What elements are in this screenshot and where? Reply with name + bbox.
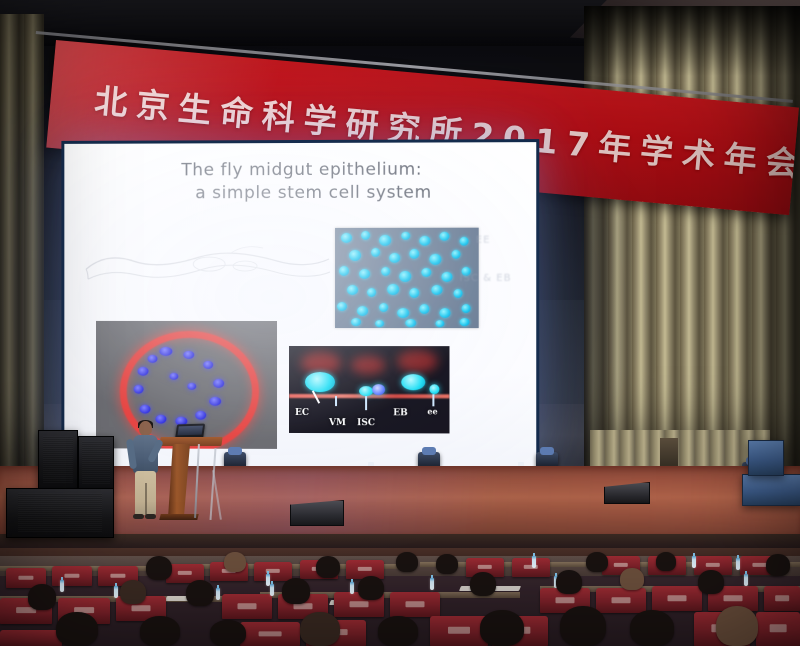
blue-speaker-cabinet-2 <box>748 440 784 476</box>
audience-head <box>716 606 758 646</box>
enterocyte-nucleus-2 <box>401 374 425 390</box>
audience-head <box>656 552 676 571</box>
slide-title-line2: a simple stem cell system <box>195 181 512 205</box>
presenter-head <box>139 421 152 436</box>
audience-head <box>300 612 340 646</box>
audience-head <box>556 570 582 594</box>
label-ec: EC <box>295 408 309 418</box>
water-bottle <box>350 582 354 594</box>
audience-head <box>480 610 524 646</box>
water-bottle <box>60 580 64 592</box>
water-bottle <box>216 588 220 600</box>
label-isc: ISC <box>357 418 375 428</box>
slide-title: The fly midgut epithelium: a simple stem… <box>181 158 512 205</box>
audience-head <box>186 580 214 606</box>
seat <box>222 594 272 619</box>
seat <box>390 592 440 617</box>
stage-floor-reflection <box>0 470 800 536</box>
speaker-cabinet-top <box>38 430 78 490</box>
seat <box>0 630 62 646</box>
slide-note-isc-eb: ISC & EB <box>460 273 512 284</box>
slide-title-line1: The fly midgut epithelium: <box>181 160 422 181</box>
audience-head <box>140 616 180 646</box>
water-bottle <box>270 584 274 596</box>
audience-head <box>396 552 418 572</box>
seat <box>764 586 800 611</box>
eb-nucleus <box>372 384 385 395</box>
presenter <box>128 421 162 521</box>
presenter-leg-split <box>145 483 147 515</box>
label-ee: ee <box>427 406 437 416</box>
audience-head <box>620 568 644 590</box>
podium-top <box>159 437 222 446</box>
audience-head <box>698 570 724 594</box>
presenter-shoe-left <box>133 514 144 519</box>
speaker-cabinet-top-2 <box>78 436 114 490</box>
curtain-right <box>584 6 800 478</box>
audience-head <box>316 556 340 578</box>
audience-head <box>630 610 674 646</box>
seat <box>652 586 702 611</box>
audience-head <box>436 554 458 574</box>
audience-head <box>210 620 246 646</box>
audience-head <box>56 612 98 646</box>
seat <box>512 558 550 577</box>
label-eb: EB <box>393 408 408 418</box>
subwoofer-cabinet <box>6 488 114 538</box>
seat <box>240 622 300 646</box>
audience-head <box>120 580 146 604</box>
audience-head <box>358 576 384 600</box>
enterocyte-nucleus <box>305 372 335 392</box>
water-bottle <box>692 556 696 568</box>
blue-speaker-cabinet <box>742 474 800 506</box>
auditorium-photo: 北京生命科学研究所2017年学术年会 The fly midgut epithe… <box>0 0 800 646</box>
audience-head <box>224 552 246 572</box>
curtain-top-shadow <box>584 6 800 76</box>
presenter-shoe-right <box>145 514 156 519</box>
isc-nucleus <box>359 386 373 396</box>
audience-head <box>470 572 496 596</box>
seat <box>52 566 92 586</box>
epithelium-micrograph: EC VM ISC EB ee <box>289 346 449 433</box>
audience-head <box>560 606 606 646</box>
audience-head <box>766 554 790 576</box>
seat <box>756 612 800 646</box>
water-bottle <box>532 556 536 568</box>
audience-head <box>146 556 172 580</box>
ee-nucleus <box>429 384 439 394</box>
audience-head <box>378 616 418 646</box>
curtain-left <box>0 14 44 480</box>
fly-gut-sketch-icon <box>82 235 331 297</box>
seat <box>596 588 646 613</box>
audience-head <box>282 578 310 604</box>
audience-head <box>586 552 608 572</box>
nuclei-micrograph <box>335 228 479 328</box>
seat <box>254 562 292 581</box>
water-bottle <box>114 586 118 598</box>
audience-head <box>28 584 56 610</box>
podium-base <box>159 514 198 520</box>
water-bottle <box>736 558 740 570</box>
slide-note-ee: EE <box>476 235 491 246</box>
water-bottle <box>744 574 748 586</box>
label-vm: VM <box>329 418 346 428</box>
water-bottle <box>430 578 434 590</box>
